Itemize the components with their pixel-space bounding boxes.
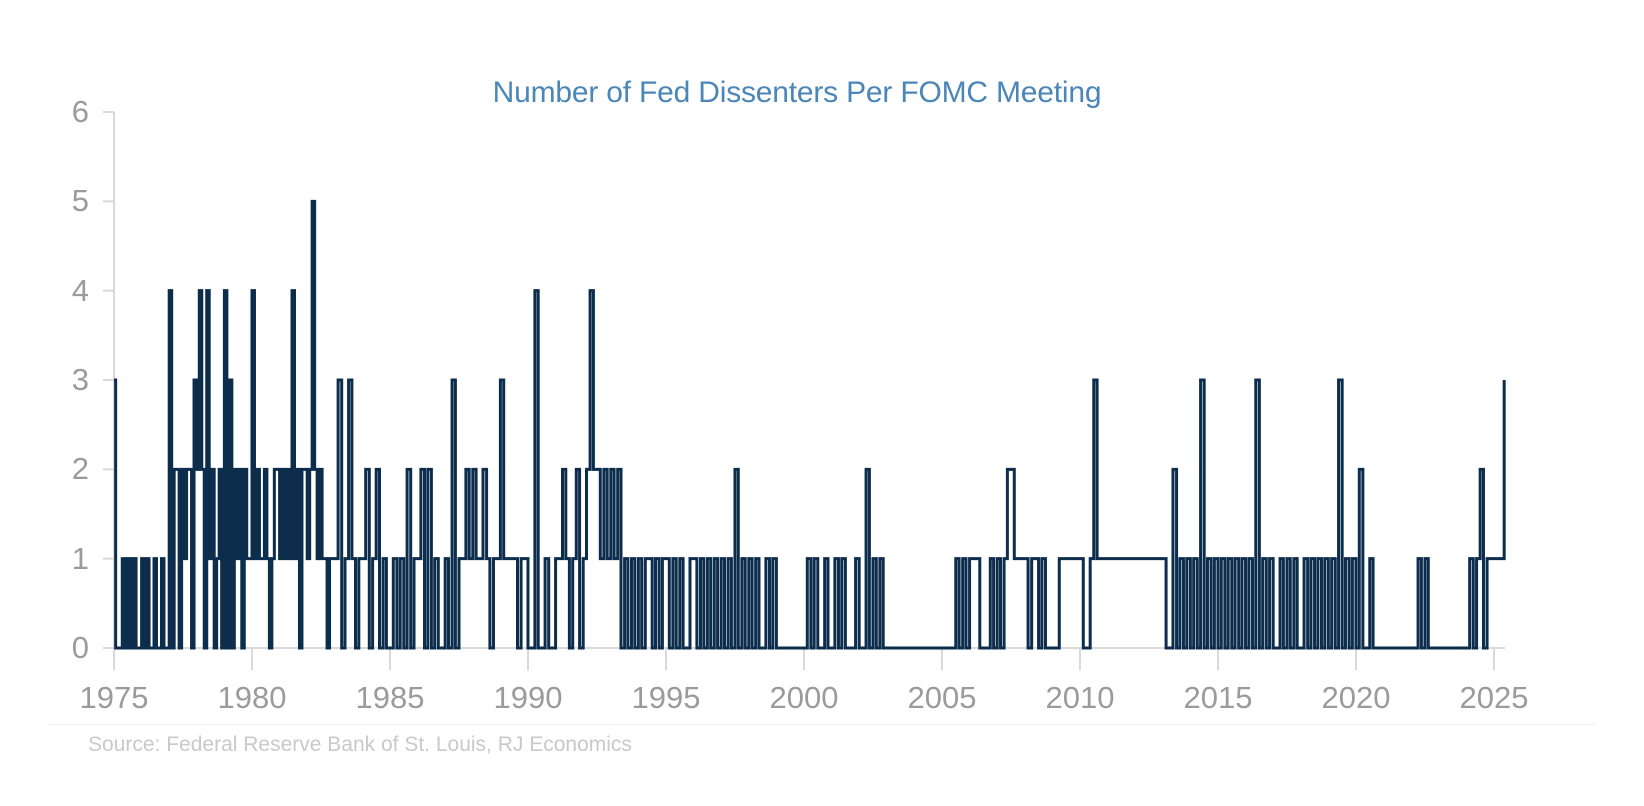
y-tick-label: 6	[43, 96, 89, 127]
y-tick-label: 0	[43, 632, 89, 663]
x-tick-label: 2015	[1158, 682, 1278, 713]
footer-divider	[48, 724, 1596, 725]
x-axis	[114, 648, 1505, 670]
y-tick-label: 4	[43, 275, 89, 306]
y-tick-label: 3	[43, 364, 89, 395]
source-note: Source: Federal Reserve Bank of St. Loui…	[88, 733, 632, 757]
y-tick-label: 1	[43, 543, 89, 574]
y-tick-label: 2	[43, 453, 89, 484]
x-tick-label: 1985	[330, 682, 450, 713]
x-tick-label: 2005	[882, 682, 1002, 713]
x-tick-label: 1975	[54, 682, 174, 713]
y-tick-label: 5	[43, 185, 89, 216]
x-tick-label: 2010	[1020, 682, 1140, 713]
x-tick-label: 1980	[192, 682, 312, 713]
x-tick-label: 2020	[1296, 682, 1416, 713]
x-tick-label: 2025	[1434, 682, 1554, 713]
series-line	[114, 201, 1504, 648]
data-series	[114, 201, 1504, 648]
x-tick-label: 1995	[606, 682, 726, 713]
chart-figure: Number of Fed Dissenters Per FOMC Meetin…	[0, 0, 1644, 806]
x-tick-label: 1990	[468, 682, 588, 713]
x-tick-label: 2000	[744, 682, 864, 713]
y-axis	[103, 112, 114, 648]
